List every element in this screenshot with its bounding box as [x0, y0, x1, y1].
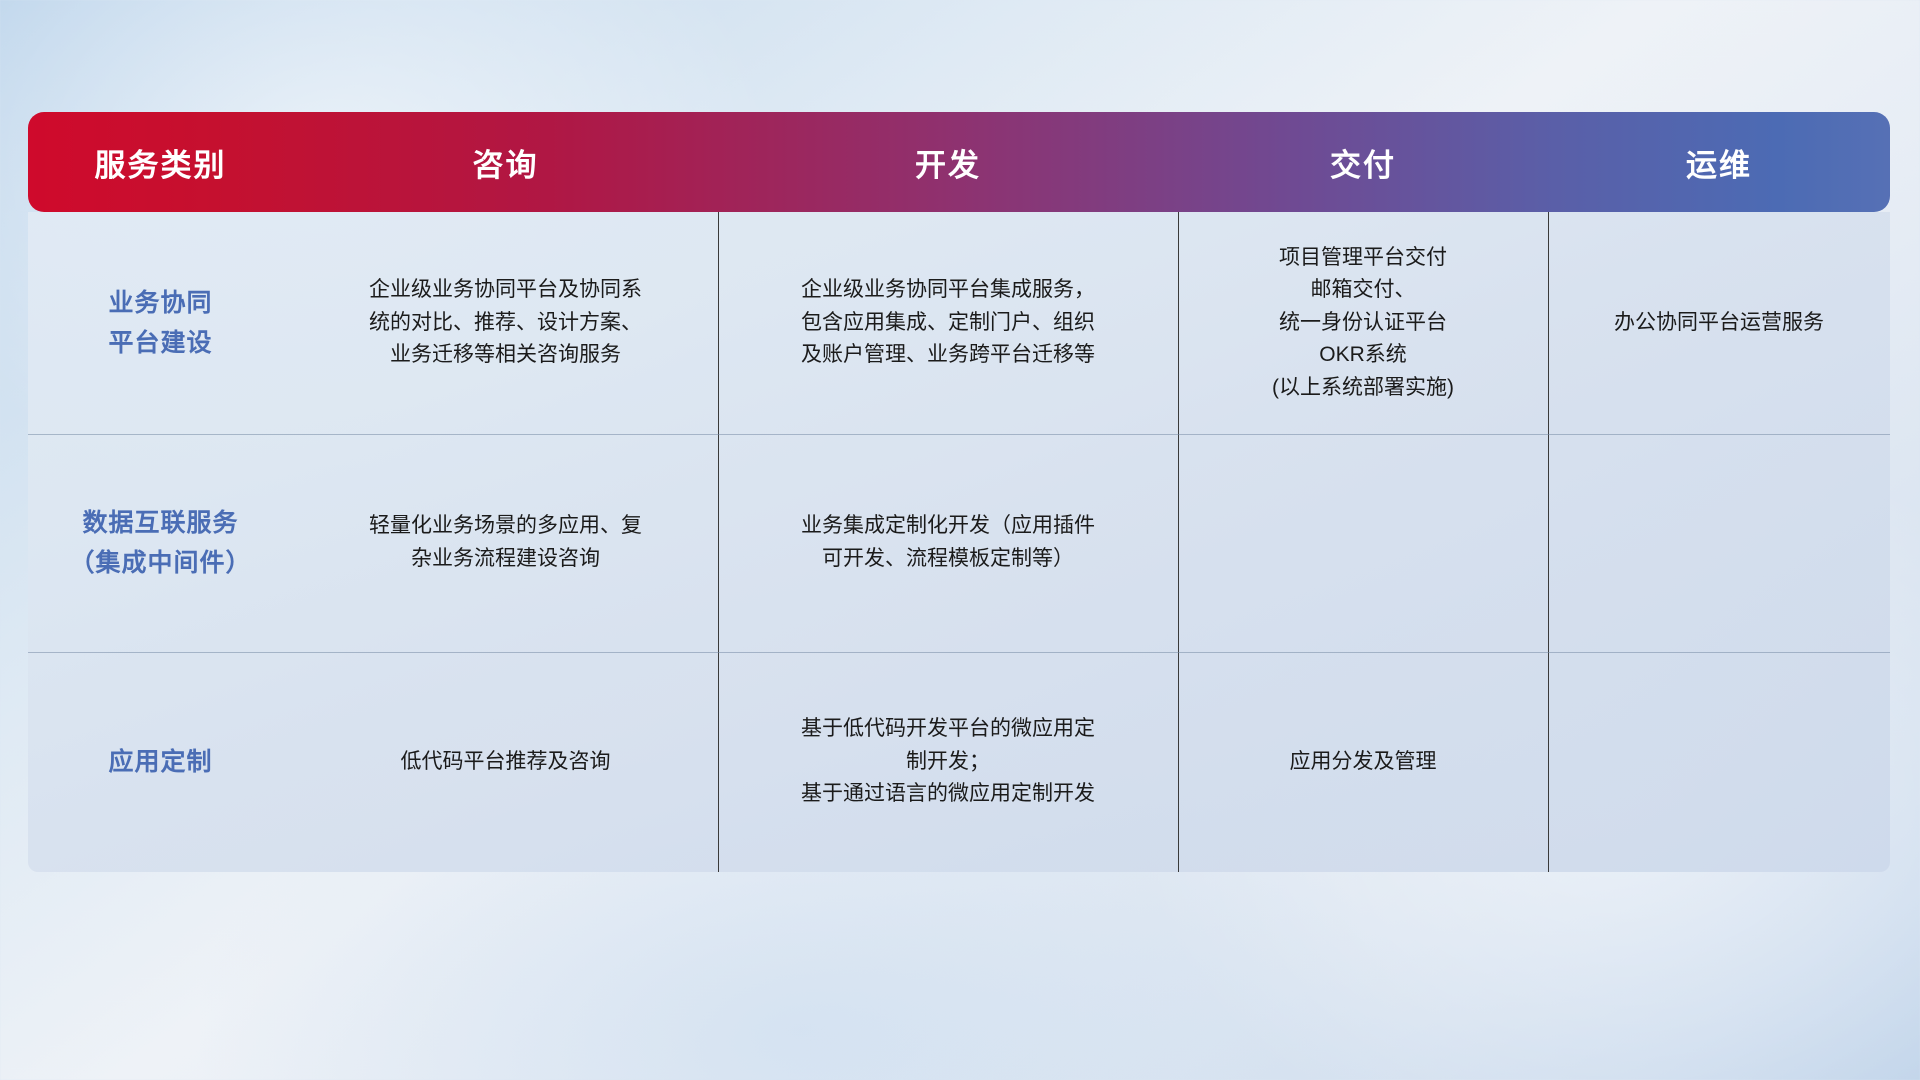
- cell-category: 应用定制: [28, 652, 293, 872]
- column-header-operations: 运维: [1548, 112, 1890, 212]
- cell-delivery: [1178, 434, 1548, 652]
- cell-operations: 办公协同平台运营服务: [1548, 212, 1890, 434]
- cell-consulting: 轻量化业务场景的多应用、复 杂业务流程建设咨询: [293, 434, 718, 652]
- cell-consulting: 低代码平台推荐及咨询: [293, 652, 718, 872]
- table-row: 业务协同 平台建设 企业级业务协同平台及协同系 统的对比、推荐、设计方案、 业务…: [28, 212, 1890, 434]
- cell-delivery: 应用分发及管理: [1178, 652, 1548, 872]
- cell-development: 业务集成定制化开发（应用插件 可开发、流程模板定制等）: [718, 434, 1178, 652]
- cell-operations: [1548, 434, 1890, 652]
- cell-category: 业务协同 平台建设: [28, 212, 293, 434]
- cell-operations: [1548, 652, 1890, 872]
- cell-consulting: 企业级业务协同平台及协同系 统的对比、推荐、设计方案、 业务迁移等相关咨询服务: [293, 212, 718, 434]
- column-header-label: 服务类别: [95, 140, 227, 185]
- cell-development: 基于低代码开发平台的微应用定 制开发； 基于通过语言的微应用定制开发: [718, 652, 1178, 872]
- column-header-consulting: 咨询: [293, 112, 718, 212]
- table-body: 业务协同 平台建设 企业级业务协同平台及协同系 统的对比、推荐、设计方案、 业务…: [28, 212, 1890, 872]
- row-divider: [28, 652, 1890, 653]
- row-divider: [28, 434, 1890, 435]
- cell-delivery: 项目管理平台交付 邮箱交付、 统一身份认证平台 OKR系统 (以上系统部署实施): [1178, 212, 1548, 434]
- column-header-development: 开发: [718, 112, 1178, 212]
- column-header-label: 咨询: [473, 140, 539, 185]
- column-header-delivery: 交付: [1178, 112, 1548, 212]
- column-header-service-category: 服务类别: [28, 112, 293, 212]
- cell-category: 数据互联服务 （集成中间件）: [28, 434, 293, 652]
- cell-development: 企业级业务协同平台集成服务， 包含应用集成、定制门户、组织 及账户管理、业务跨平…: [718, 212, 1178, 434]
- column-header-label: 交付: [1330, 140, 1396, 185]
- service-matrix-table: 服务类别 咨询 开发 交付 运维 业务协同 平台建设 企业级业务协同平台及协同系…: [28, 112, 1890, 952]
- table-row: 应用定制 低代码平台推荐及咨询 基于低代码开发平台的微应用定 制开发； 基于通过…: [28, 652, 1890, 872]
- table-row: 数据互联服务 （集成中间件） 轻量化业务场景的多应用、复 杂业务流程建设咨询 业…: [28, 434, 1890, 652]
- table-header-row: 服务类别 咨询 开发 交付 运维: [28, 112, 1890, 212]
- column-header-label: 运维: [1686, 140, 1752, 185]
- column-header-label: 开发: [915, 140, 981, 185]
